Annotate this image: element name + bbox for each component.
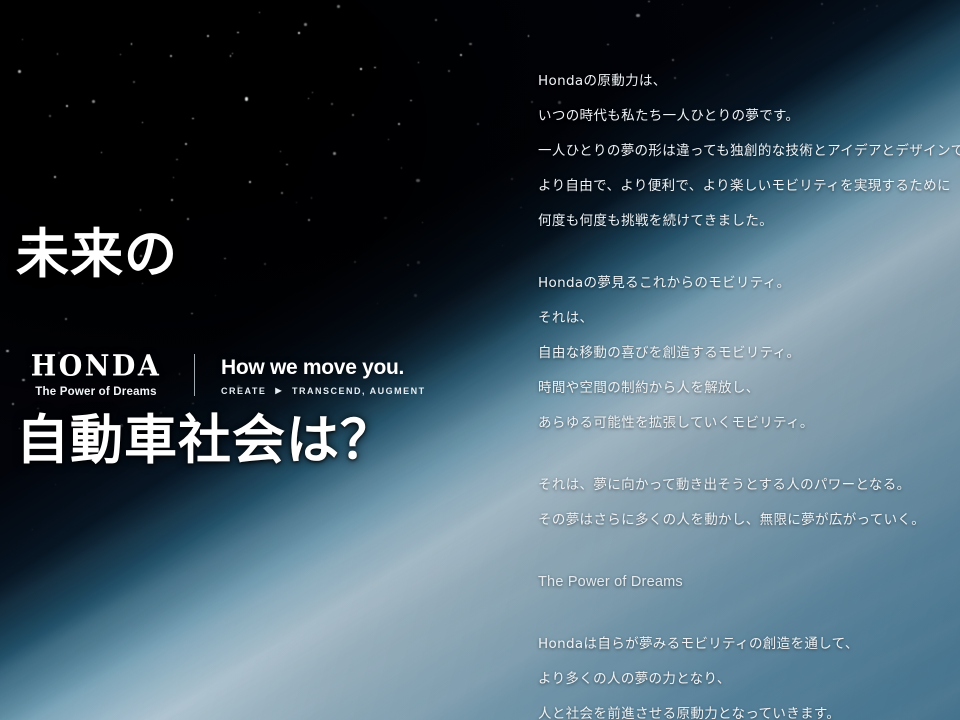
copy-line: その夢はさらに多くの人を動かし、無限に夢が広がっていく。	[538, 503, 960, 538]
copy-line: 一人ひとりの夢の形は違っても独創的な技術とアイデアとデザインで、	[538, 134, 960, 169]
copy-paragraph: Hondaの夢見るこれからのモビリティ。それは、自由な移動の喜びを創造するモビリ…	[538, 266, 960, 441]
tagline-create-label: CREATE	[221, 386, 266, 396]
copy-line: Hondaの夢見るこれからのモビリティ。	[538, 266, 960, 301]
campaign-tagline: How we move you.	[221, 356, 426, 380]
honda-wordmark: HONDA	[20, 351, 172, 383]
copy-line: より自由で、より便利で、より楽しいモビリティを実現するために	[538, 169, 960, 204]
copy-line: 自由な移動の喜びを創造するモビリティ。	[538, 336, 960, 371]
tagline-rest-label: TRANSCEND, AUGMENT	[292, 386, 426, 396]
honda-logo-lockup: HONDA The Power of Dreams How we move yo…	[20, 352, 426, 398]
logo-divider	[194, 354, 195, 396]
campaign-tagline-block: How we move you. CREATE ▶ TRANSCEND, AUG…	[221, 355, 426, 396]
slide-title-line-1: 未来の	[16, 224, 394, 286]
campaign-tagline-sub: CREATE ▶ TRANSCEND, AUGMENT	[221, 386, 426, 396]
copy-line: 時間や空間の制約から人を解放し、	[538, 371, 960, 406]
honda-slogan: The Power of Dreams	[20, 386, 172, 398]
copy-paragraph: それは、夢に向かって動き出そうとする人のパワーとなる。その夢はさらに多くの人を動…	[538, 468, 960, 538]
copy-line: 人と社会を前進させる原動力となっていきます。	[538, 697, 960, 720]
play-arrow-icon: ▶	[275, 387, 283, 395]
copy-line: より多くの人の夢の力となり、	[538, 662, 960, 697]
presentation-slide: 未来の 自動車社会は？ HONDA The Power of Dreams Ho…	[0, 0, 960, 720]
copy-line: いつの時代も私たち一人ひとりの夢です。	[538, 99, 960, 134]
copy-line: それは、	[538, 301, 960, 336]
copy-line: それは、夢に向かって動き出そうとする人のパワーとなる。	[538, 468, 960, 503]
copy-line: 何度も何度も挑戦を続けてきました。	[538, 204, 960, 239]
copy-paragraph: Hondaは自らが夢みるモビリティの創造を通して、より多くの人の夢の力となり、人…	[538, 627, 960, 720]
body-copy: Hondaの原動力は、いつの時代も私たち一人ひとりの夢です。一人ひとりの夢の形は…	[538, 64, 960, 720]
honda-logo-block: HONDA The Power of Dreams	[20, 352, 172, 398]
copy-paragraph: The Power of Dreams	[538, 565, 960, 600]
copy-line: Hondaの原動力は、	[538, 64, 960, 99]
copy-line: あらゆる可能性を拡張していくモビリティ。	[538, 406, 960, 441]
copy-line: The Power of Dreams	[538, 565, 960, 600]
slide-title: 未来の 自動車社会は？	[16, 100, 394, 596]
slide-title-line-2: 自動車社会は？	[16, 410, 394, 472]
copy-paragraph: Hondaの原動力は、いつの時代も私たち一人ひとりの夢です。一人ひとりの夢の形は…	[538, 64, 960, 239]
copy-line: Hondaは自らが夢みるモビリティの創造を通して、	[538, 627, 960, 662]
